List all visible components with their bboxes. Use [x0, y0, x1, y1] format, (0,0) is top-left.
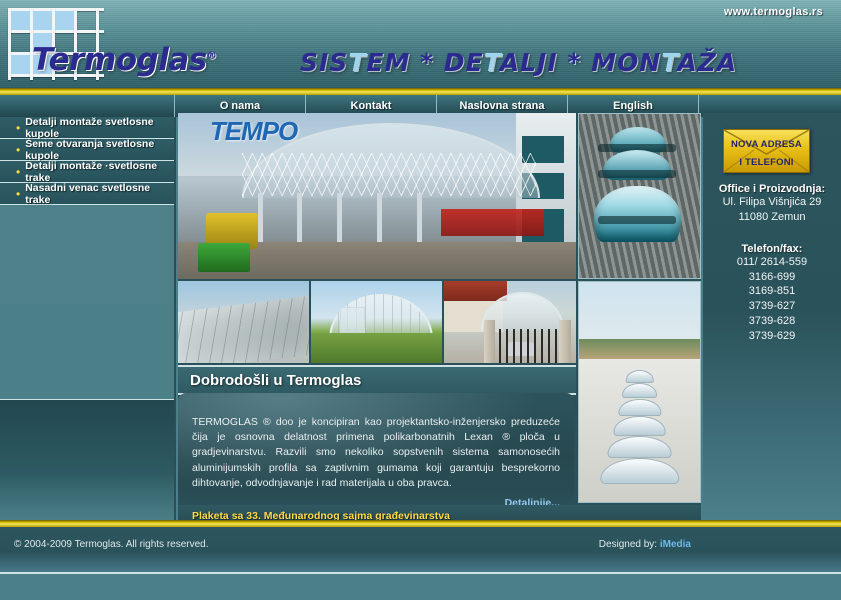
- site-header: Termoglas® www.termoglas.rs SISTEM * DET…: [0, 0, 841, 88]
- slogan-seg-6: AŽA: [677, 48, 737, 77]
- phone-label: Telefon/fax:: [703, 243, 841, 255]
- phone-number: 3169-851: [703, 284, 841, 299]
- gallery-photo-roof-turbines[interactable]: [578, 113, 701, 279]
- photo-tempo-sign-text: TEMPO: [210, 116, 297, 147]
- gold-divider-top: [0, 88, 841, 95]
- bullet-icon: •: [16, 122, 20, 134]
- main-content: TEMPO: [178, 113, 701, 520]
- page-root: Termoglas® www.termoglas.rs SISTEM * DET…: [0, 0, 841, 600]
- welcome-title-bar: Dobrodošli u Termoglas: [178, 365, 576, 395]
- address-line-1: Ul. Filipa Višnjića 29: [703, 195, 841, 210]
- slogan-seg-2: EM * DE: [366, 48, 483, 77]
- gallery-photo-metal-roof[interactable]: [178, 281, 309, 363]
- slogan-seg-1: T: [348, 48, 366, 77]
- slogan-seg-5: T: [661, 48, 677, 77]
- logo-wordmark: Termoglas®: [32, 42, 216, 78]
- bullet-icon: •: [16, 166, 20, 178]
- welcome-paragraph: TERMOGLAS ® doo je koncipiran kao projek…: [192, 415, 560, 491]
- right-sidebar: NOVA ADRESA I TELEFONI Office i Proizvod…: [703, 113, 841, 520]
- contact-info-block: Office i Proizvodnja: Ul. Filipa Višnjić…: [703, 183, 841, 344]
- designed-by-prefix: Designed by:: [599, 539, 660, 550]
- designed-by: Designed by: iMedia: [599, 539, 691, 550]
- page-bottom-strip: [0, 574, 841, 600]
- badge-line-2: I TELEFONI: [724, 157, 809, 168]
- left-sidebar-menu: KUPOLE "TERMOGLAS" •Detalji montaže svet…: [0, 117, 176, 520]
- office-label: Office i Proizvodnja:: [703, 183, 841, 195]
- designer-link[interactable]: iMedia: [660, 539, 691, 550]
- sidebar-item-label: Detalji montaže svetlosne kupole: [25, 117, 174, 140]
- phone-number: 3739-627: [703, 299, 841, 314]
- header-slogan: SISTEM * DETALJI * MONTAŽA: [300, 48, 737, 77]
- logo-text: Termoglas: [32, 42, 207, 78]
- sidebar-item-seme-otvaranja-svetlosne-kupole[interactable]: •Šeme otvaranja svetlosne kupole: [0, 139, 174, 161]
- gallery-photo-greenhouse[interactable]: [311, 281, 442, 363]
- sidebar-item-label: Nasadni venac svetlosne trake: [25, 182, 174, 206]
- slogan-seg-4: ALJI * MON: [500, 48, 661, 77]
- sidebar-item-detalji-montaze-svetlosne-kupole[interactable]: •Detalji montaže svetlosne kupole: [0, 117, 174, 139]
- nav-left-spacer: [0, 95, 175, 117]
- sidebar-item-label: Detalji montaže ·svetlosne trake: [25, 160, 174, 184]
- gallery-photo-tempo-hall[interactable]: TEMPO: [178, 113, 576, 279]
- welcome-text-panel: TERMOGLAS ® doo je koncipiran kao projek…: [178, 393, 574, 501]
- gallery-row-secondary: [178, 281, 576, 363]
- sidebar-item-detalji-montaze-svetlosne-trake[interactable]: •Detalji montaže ·svetlosne trake: [0, 161, 174, 183]
- nova-adresa-envelope-icon-badge[interactable]: NOVA ADRESA I TELEFONI: [723, 129, 810, 173]
- bullet-icon: •: [16, 188, 20, 200]
- gallery-column-right: [578, 113, 701, 503]
- site-url: www.termoglas.rs: [724, 6, 823, 18]
- copyright-text: © 2004-2009 Termoglas. All rights reserv…: [14, 539, 209, 550]
- sidebar-filler: [0, 399, 176, 520]
- phone-number: 3166-699: [703, 270, 841, 285]
- site-footer: © 2004-2009 Termoglas. All rights reserv…: [0, 527, 841, 574]
- bullet-icon: •: [16, 144, 20, 156]
- page-title: Dobrodošli u Termoglas: [190, 372, 361, 389]
- gallery-photo-skylight-row[interactable]: [578, 281, 701, 503]
- badge-line-1: NOVA ADRESA: [724, 139, 809, 150]
- sidebar-item-label: Šeme otvaranja svetlosne kupole: [25, 138, 174, 162]
- gold-divider-bottom: [0, 520, 841, 527]
- phone-number: 3739-629: [703, 329, 841, 344]
- address-line-2: 11080 Zemun: [703, 210, 841, 225]
- slogan-seg-0: SIS: [300, 48, 348, 77]
- phone-number: 011/ 2614-559: [703, 255, 841, 270]
- sidebar-item-nasadni-venac-svetlosne-trake[interactable]: •Nasadni venac svetlosne trake: [0, 183, 174, 205]
- phone-number: 3739-628: [703, 314, 841, 329]
- logo-trademark: ®: [207, 51, 217, 62]
- gallery-photo-carport-gate[interactable]: [444, 281, 576, 363]
- slogan-seg-3: T: [484, 48, 500, 77]
